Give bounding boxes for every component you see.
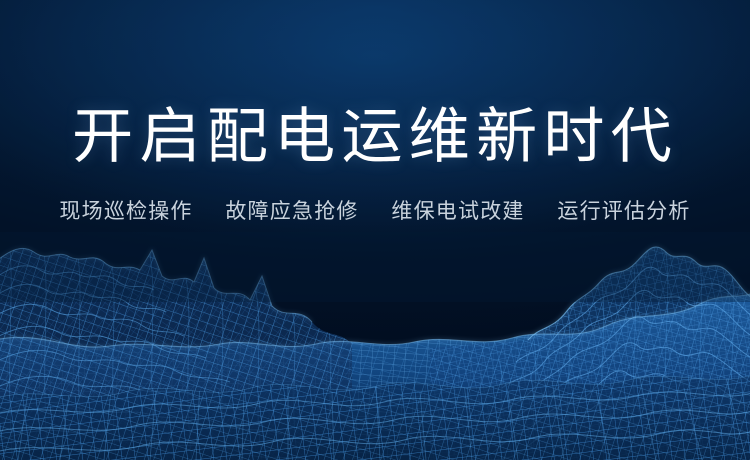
wireframe-mesh-terrain xyxy=(0,0,750,460)
banner-canvas: 开启配电运维新时代 现场巡检操作 故障应急抢修 维保电试改建 运行评估分析 xyxy=(0,0,750,460)
horizon-haze xyxy=(0,232,750,302)
